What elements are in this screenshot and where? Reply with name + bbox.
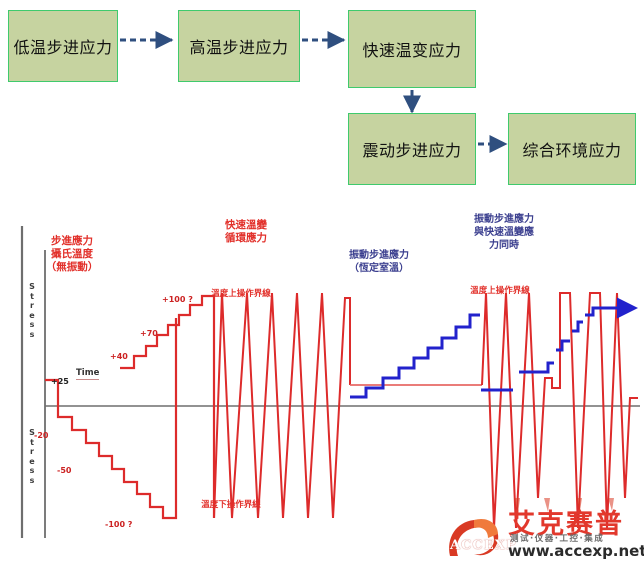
- annotation-line: 力同時: [474, 239, 534, 252]
- trace-combined-vibration-step-4: [572, 322, 583, 331]
- chart-value-marker-2: +70: [140, 329, 158, 338]
- flowchart: 低温步进应力高温步进应力快速温变应力震动步进应力综合环境应力: [0, 0, 644, 198]
- trace-high-temp-step: [120, 296, 214, 518]
- watermark-url: www.accexp.net: [508, 542, 644, 560]
- annotation-line: 振動步進應力: [474, 213, 534, 226]
- chart-value-marker-5: -50: [57, 466, 71, 475]
- chart-value-marker-0: +25: [51, 377, 69, 386]
- flowchart-box-2[interactable]: 快速温变应力: [348, 10, 476, 88]
- annotation-line: 步進應力: [46, 235, 99, 248]
- flowchart-box-0[interactable]: 低温步进应力: [8, 10, 118, 82]
- y-axis-label-upper: Stress: [26, 282, 38, 339]
- flowchart-box-4[interactable]: 综合环境应力: [508, 113, 636, 185]
- trace-low-temp-step: [45, 318, 176, 518]
- flowchart-box-label: 快速温变应力: [362, 37, 461, 61]
- ann-step-stress-celsius: 步進應力攝氏溫度（無振動）: [46, 235, 99, 274]
- annotation-line: 溫度上操作界線: [211, 288, 271, 301]
- annotation-line: （無振動）: [46, 261, 99, 274]
- trace-combined-vibration-step-final: [585, 308, 626, 315]
- flowchart-box-label: 综合环境应力: [522, 137, 621, 161]
- flowchart-box-label: 低温步进应力: [13, 34, 112, 58]
- chart-value-marker-3: +100 ?: [162, 295, 193, 304]
- trace-combined-temp-cycle: [482, 293, 638, 528]
- chart-value-marker-4: -20: [34, 431, 48, 440]
- annotation-line: 溫度上操作界線: [470, 285, 530, 298]
- ann-upper-limit-right: 溫度上操作界線: [470, 285, 530, 298]
- chart-value-marker-6: -100 ?: [105, 520, 132, 529]
- flowchart-box-1[interactable]: 高温步进应力: [178, 10, 300, 82]
- ann-lower-limit-mid: 溫度下操作界線: [201, 499, 261, 512]
- ann-vibration-plus-temp: 振動步進應力與快速溫變應力同時: [474, 213, 534, 252]
- watermark: ACCEXP 艾克赛普 测试·仪器·工控·集成 www.accexp.net: [440, 498, 644, 562]
- ann-vibration-step: 振動步進應力（恆定室溫）: [349, 249, 409, 275]
- trace-combined-vibration-step-3: [556, 341, 570, 350]
- flowchart-box-label: 高温步进应力: [189, 34, 288, 58]
- annotation-line: 循環應力: [225, 232, 267, 245]
- screenshot-root: 低温步进应力高温步进应力快速温变应力震动步进应力综合环境应力: [0, 0, 644, 562]
- annotation-line: （恆定室溫）: [349, 262, 409, 275]
- annotation-line: 攝氏溫度: [46, 248, 99, 261]
- annotation-line: 振動步進應力: [349, 249, 409, 262]
- ann-upper-limit-mid: 溫度上操作界線: [211, 288, 271, 301]
- x-axis-label: Time: [76, 368, 99, 378]
- ann-rapid-temp-cycle: 快速溫變循環應力: [225, 219, 267, 245]
- annotation-line: 與快速溫變應: [474, 226, 534, 239]
- flowchart-box-label: 震动步进应力: [362, 137, 461, 161]
- flowchart-box-3[interactable]: 震动步进应力: [348, 113, 476, 185]
- chart-value-marker-1: +40: [110, 352, 128, 361]
- watermark-logo-text: ACCEXP: [450, 538, 517, 553]
- annotation-line: 溫度下操作界線: [201, 499, 261, 512]
- annotation-line: 快速溫變: [225, 219, 267, 232]
